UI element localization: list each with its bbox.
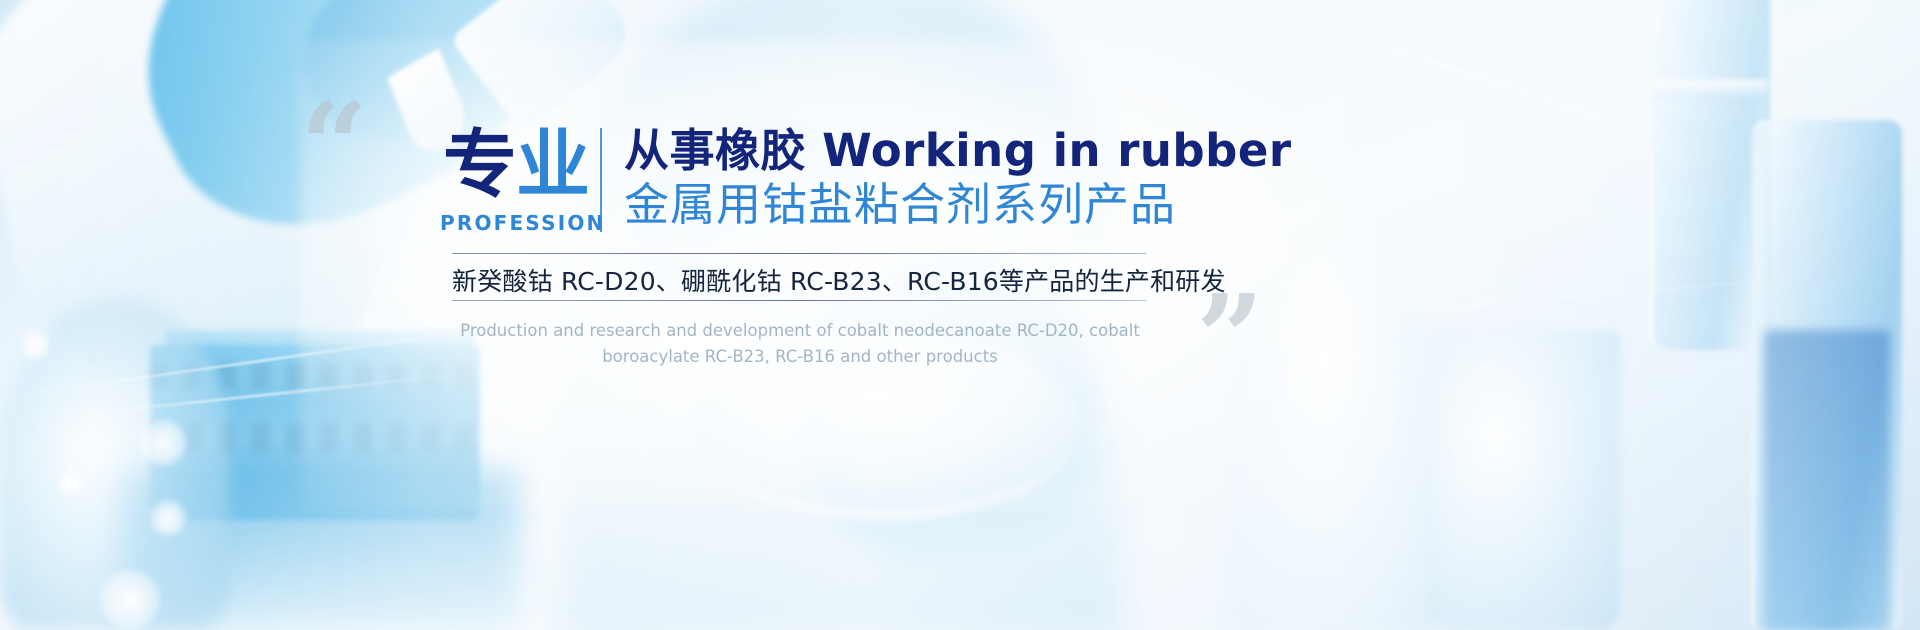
- logo-char-ye: 业: [516, 122, 589, 208]
- quote-close-icon: ”: [1196, 296, 1258, 381]
- headline-group: 从事橡胶 Working in rubber 金属用钴盐粘合剂系列产品: [624, 126, 1292, 232]
- subtitle-chinese: 新癸酸钴 RC-D20、硼酰化钴 RC-B23、RC-B16等产品的生产和研发: [452, 262, 1152, 298]
- logo-char-zhuan: 专: [443, 122, 516, 208]
- hero-banner: “ 专业 PROFESSION 从事橡胶 Working in rubber 金…: [0, 0, 1920, 630]
- profession-logo: 专业 PROFESSION: [440, 130, 592, 235]
- banner-content: “ 专业 PROFESSION 从事橡胶 Working in rubber 金…: [0, 0, 1920, 630]
- subtitle-rule-top: [452, 253, 1146, 254]
- logo-chinese: 专业: [440, 130, 592, 201]
- logo-english: PROFESSION: [440, 211, 592, 235]
- headline-line-1: 从事橡胶 Working in rubber: [624, 126, 1292, 176]
- quote-open-icon: “: [300, 104, 362, 189]
- subtitle-rule-bottom: [452, 300, 1146, 301]
- subtitle-english: Production and research and development …: [440, 318, 1160, 369]
- vertical-divider: [600, 128, 602, 232]
- headline-line-2: 金属用钴盐粘合剂系列产品: [624, 178, 1292, 232]
